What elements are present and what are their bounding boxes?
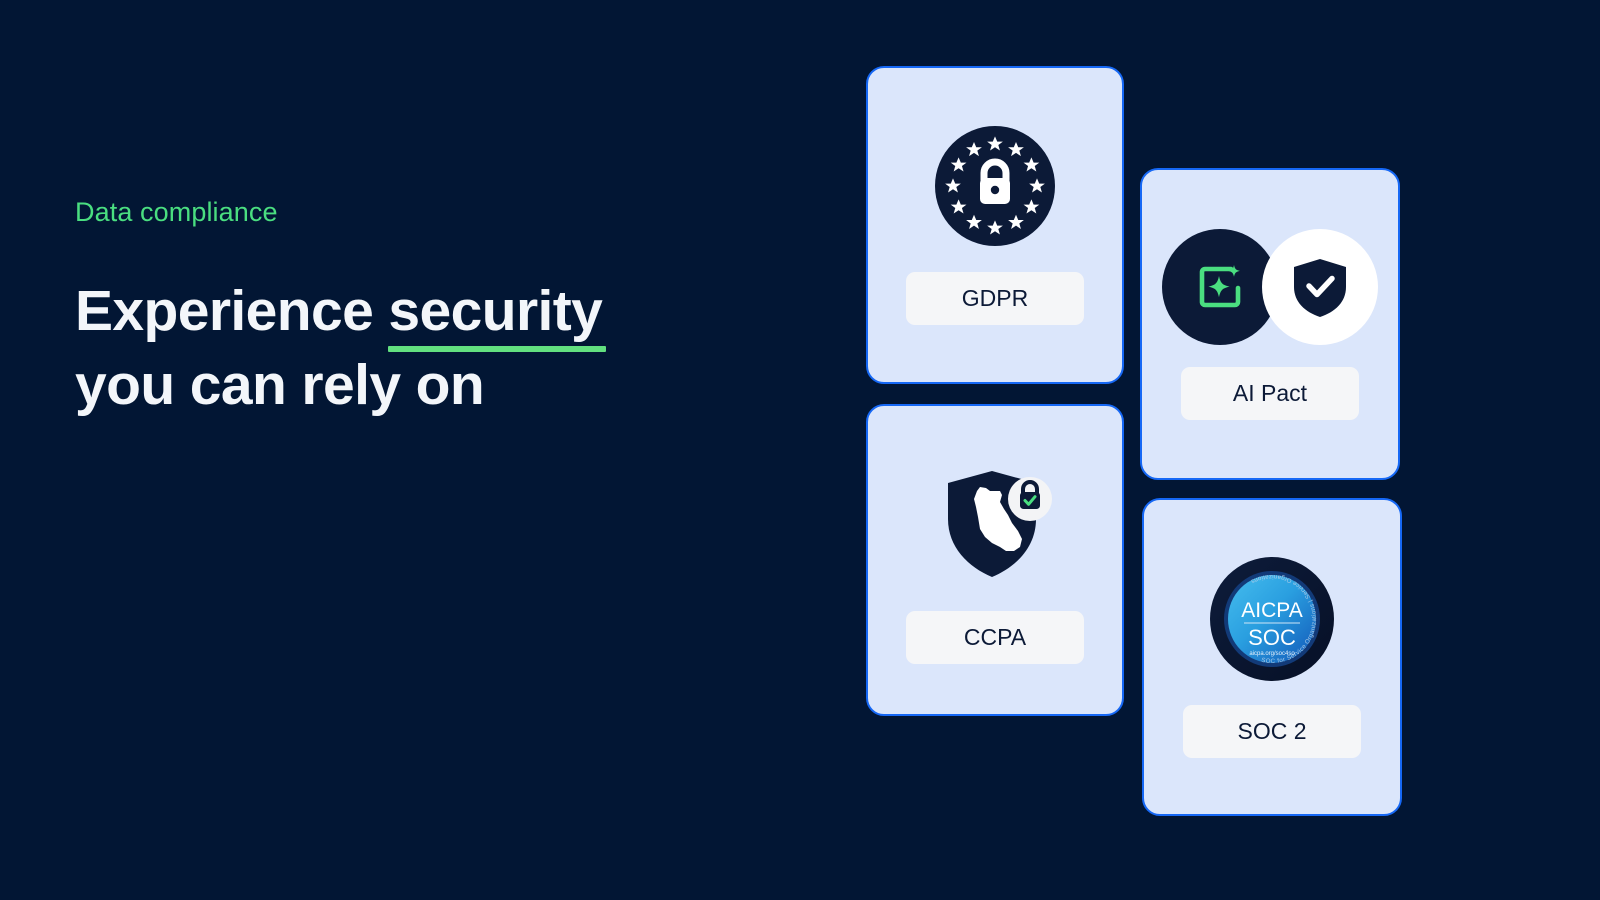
badge-card-ccpa[interactable]: CCPA [866,404,1124,716]
headline-prefix: Experience [75,279,388,343]
headline-line-1: Experience security [75,279,602,343]
eu-stars-padlock-icon [935,126,1055,246]
ai-pact-emblem-wrap [1162,229,1378,345]
seal-url-text: aicpa.org/soc4so [1249,651,1295,657]
gdpr-emblem-wrap [935,126,1055,246]
headline-line-2: you can rely on [75,353,484,417]
badge-label-ai-pact: AI Pact [1181,367,1359,420]
compliance-hero-slide: Data compliance Experience security you … [0,0,1600,900]
shield-check-disc [1262,229,1378,345]
badge-card-soc2[interactable]: SOC for Service Organizations | Service … [1142,498,1402,816]
california-shield-padlock-icon [930,457,1060,587]
seal-line-1: AICPA [1241,599,1302,622]
shield-check-icon [1290,256,1350,318]
eyebrow-label: Data compliance [75,196,755,228]
ai-sparkle-disc [1162,229,1278,345]
ai-sparkle-icon [1192,259,1248,315]
badge-label-gdpr: GDPR [906,272,1084,325]
badge-card-ai-pact[interactable]: AI Pact [1140,168,1400,480]
badge-card-gdpr[interactable]: GDPR [866,66,1124,384]
headline-underlined-word: security [388,279,602,343]
seal-line-2: SOC [1248,625,1296,650]
badge-label-ccpa: CCPA [906,611,1084,664]
hero-copy-block: Data compliance Experience security you … [75,196,755,422]
ccpa-emblem-wrap [930,457,1060,587]
page-title: Experience security you can rely on [75,274,755,422]
badge-label-soc2: SOC 2 [1183,705,1361,758]
compliance-badge-grid: GDPR CCPA [866,66,1400,816]
soc2-emblem-wrap: SOC for Service Organizations | Service … [1210,557,1334,681]
aicpa-soc-seal-icon: SOC for Service Organizations | Service … [1210,557,1334,681]
